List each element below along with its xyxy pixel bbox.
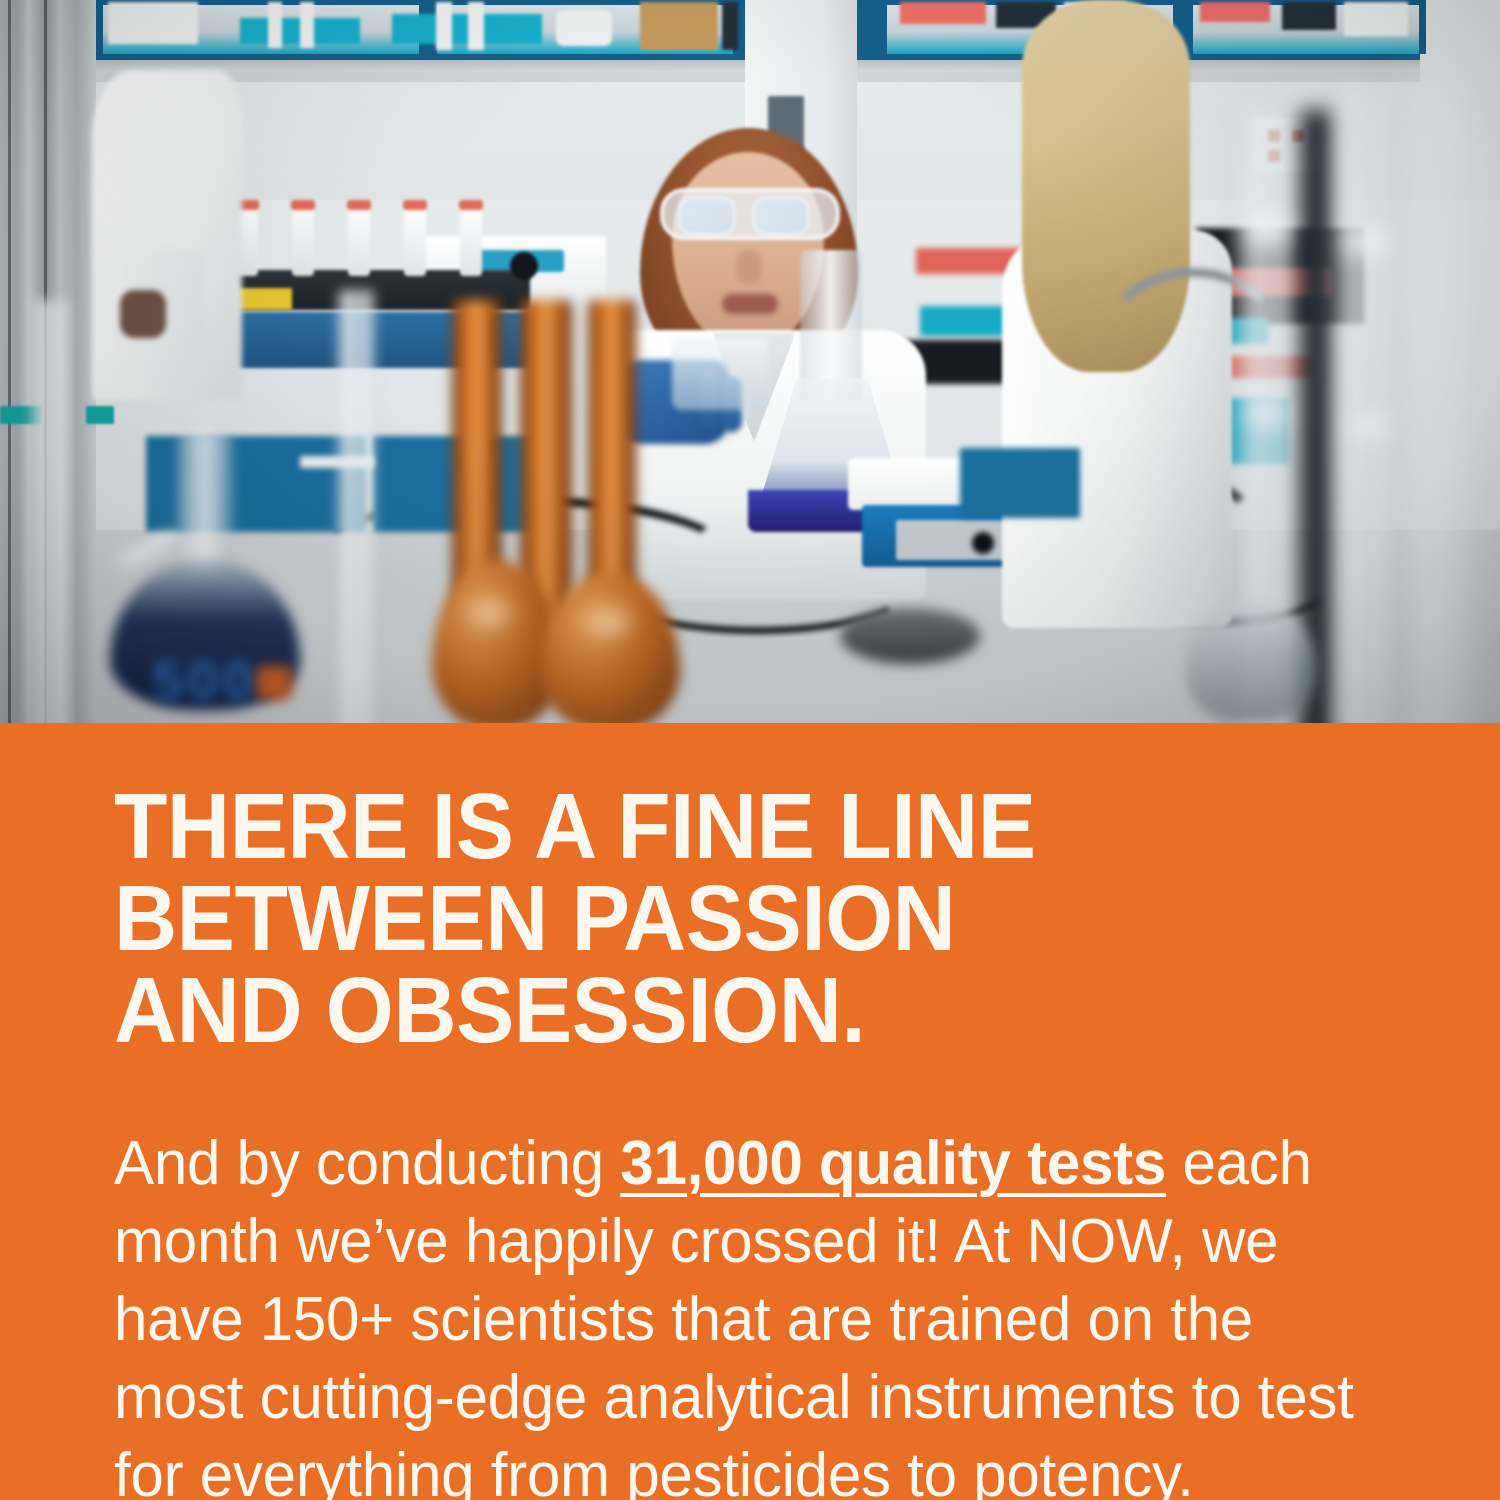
headline-line-2: BETWEEN PASSION <box>114 872 1317 964</box>
cabinet-item-dark-a <box>722 2 738 50</box>
orange-message-panel: THERE IS A FINE LINE BETWEEN PASSION AND… <box>0 723 1500 1500</box>
cabinet-item-tube-a <box>268 2 282 48</box>
test-tube-4 <box>404 206 426 276</box>
cabinet-item-box-a <box>108 2 198 44</box>
glass-highlight-a <box>1244 216 1290 246</box>
headline-line-1: THERE IS A FINE LINE <box>114 780 1317 872</box>
page-headline: THERE IS A FINE LINE BETWEEN PASSION AND… <box>114 780 1317 1056</box>
test-tube-3 <box>348 206 370 276</box>
amber-glass-column-3 <box>588 300 636 600</box>
glass-highlight-b <box>1342 226 1390 258</box>
door-teal-stripe-b <box>86 406 114 424</box>
under-bench-cabinet-3 <box>960 448 1080 518</box>
flask-500-orange-tag <box>256 666 292 700</box>
marketing-infographic-page: 500 THERE IS A FINE LINE BETWEEN PASSION… <box>0 0 1500 1500</box>
scientist-center-mouth <box>722 294 778 314</box>
cabinet-item-bottle-a <box>556 10 612 46</box>
cabinet-item-pink-a <box>900 2 986 24</box>
flask-neck-center <box>800 250 862 400</box>
test-tube-cap-3 <box>347 200 371 210</box>
test-tube-5 <box>460 206 482 276</box>
test-tube-cap-5 <box>459 200 483 210</box>
safety-goggles <box>660 188 840 240</box>
cabinet-item-carton-a <box>640 2 718 50</box>
amber-flask-highlight-1 <box>470 600 510 626</box>
cabinet-item-tube-d <box>468 2 484 50</box>
foreground-glass-column-4 <box>1332 90 1398 723</box>
cabinet-item-box-c <box>1344 2 1408 36</box>
cabinet-item-tube-c <box>436 2 452 50</box>
cabinet-item-tube-b <box>300 2 314 48</box>
flask-500-neck <box>178 430 232 580</box>
cabinet-item-cyan-b <box>392 14 542 44</box>
hero-photo: 500 <box>0 0 1500 723</box>
test-tube-cap-4 <box>403 200 427 210</box>
headline-line-3: AND OBSESSION. <box>114 964 1317 1056</box>
test-tube-cap-2 <box>291 200 315 210</box>
foreground-glass-column-2 <box>336 290 376 723</box>
beaker-held <box>672 338 768 410</box>
door-seam-1 <box>8 0 11 723</box>
stat-quality-tests: 31,000 quality tests <box>620 1129 1166 1198</box>
body-text-before: And by conducting <box>114 1129 620 1198</box>
rack-knob-right <box>510 252 538 280</box>
bench-instrument-knob <box>972 532 994 554</box>
body-paragraph: And by conducting 31,000 quality tests e… <box>114 1125 1365 1500</box>
cabinet-item-dark-c <box>1282 2 1336 30</box>
amber-flask-highlight-2 <box>586 608 630 636</box>
glass-highlight-c <box>1246 400 1288 428</box>
test-tube-2 <box>292 206 314 276</box>
cabinet-item-pink-b <box>1200 2 1270 22</box>
scientist-left-hand <box>120 290 166 338</box>
glass-highlight-d <box>1348 412 1392 440</box>
foreground-dish <box>840 608 980 664</box>
foreground-round-flask <box>1186 604 1316 722</box>
flask-500-label: 500 <box>140 648 270 713</box>
foreground-glass-column-1 <box>30 300 72 723</box>
foreground-glass-column-5 <box>1400 80 1474 723</box>
bench-instrument-panel <box>896 520 1016 560</box>
scientist-center-nose <box>736 250 762 284</box>
